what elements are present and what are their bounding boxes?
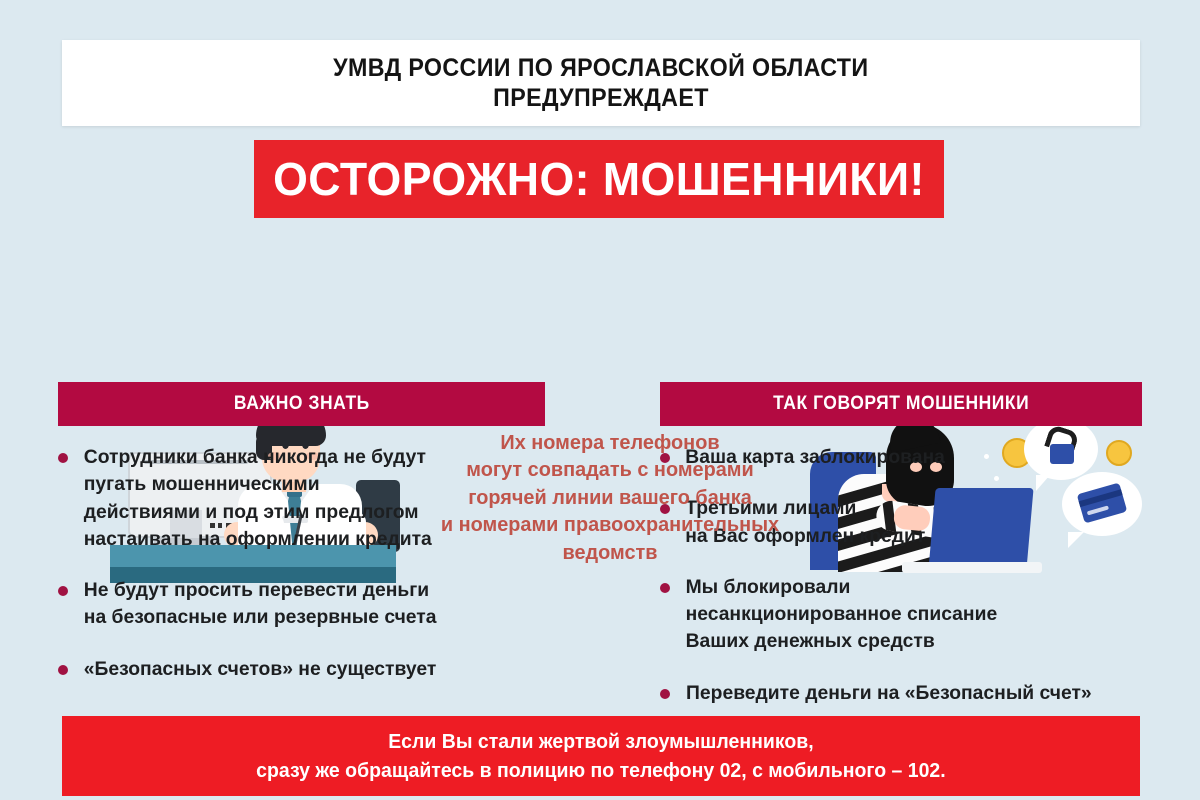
bullet-dot-icon xyxy=(660,689,670,699)
center-warning-line-4: и номерами правоохранительных xyxy=(404,511,815,538)
agency-header-line-1: УМВД РОССИИ ПО ЯРОСЛАВСКОЙ ОБЛАСТИ xyxy=(333,53,868,84)
center-warning-line-2: могут совпадать с номерами xyxy=(404,456,815,483)
center-warning-line-1: Их номера телефонов xyxy=(404,429,815,456)
list-item-text: Переведите деньги на «Безопасный счет» xyxy=(686,680,1092,707)
main-title-banner: ОСТОРОЖНО: МОШЕННИКИ! xyxy=(254,140,944,218)
poster-root: УМВД РОССИИ ПО ЯРОСЛАВСКОЙ ОБЛАСТИ ПРЕДУ… xyxy=(0,0,1200,800)
section-header-important-to-know: ВАЖНО ЗНАТЬ xyxy=(58,382,545,426)
agency-header-line-2: ПРЕДУПРЕЖДАЕТ xyxy=(493,83,709,114)
center-warning-text: Их номера телефонов могут совпадать с но… xyxy=(398,429,822,566)
footer-line-1: Если Вы стали жертвой злоумышленников, xyxy=(388,727,813,756)
center-warning-line-3: горячей линии вашего банка xyxy=(404,484,815,511)
bullet-dot-icon xyxy=(58,586,68,596)
bullet-dot-icon xyxy=(58,453,68,463)
list-item-text: «Безопасных счетов» не существует xyxy=(84,656,437,683)
center-warning-line-5: ведомств xyxy=(404,539,815,566)
list-item-text: Сотрудники банка никогда не будут пугать… xyxy=(84,444,432,553)
bullet-dot-icon xyxy=(58,665,68,675)
list-item: Переведите деньги на «Безопасный счет» xyxy=(660,680,1170,707)
section-header-right-label: ТАК ГОВОРЯТ МОШЕННИКИ xyxy=(773,393,1029,415)
bullet-dot-icon xyxy=(660,583,670,593)
illustration-band: Их номера телефонов могут совпадать с но… xyxy=(0,205,1200,385)
main-title-text: ОСТОРОЖНО: МОШЕННИКИ! xyxy=(273,152,925,206)
list-item: Не будут просить перевести деньги на без… xyxy=(58,577,558,632)
section-header-what-fraudsters-say: ТАК ГОВОРЯТ МОШЕННИКИ xyxy=(660,382,1142,426)
agency-header-band: УМВД РОССИИ ПО ЯРОСЛАВСКОЙ ОБЛАСТИ ПРЕДУ… xyxy=(62,40,1140,126)
list-item: «Безопасных счетов» не существует xyxy=(58,656,558,683)
footer-line-2: сразу же обращайтесь в полицию по телефо… xyxy=(256,756,946,785)
section-header-left-label: ВАЖНО ЗНАТЬ xyxy=(234,393,370,415)
list-item-text: Не будут просить перевести деньги на без… xyxy=(84,577,437,632)
list-item-text: Мы блокировали несанкционированное списа… xyxy=(686,574,998,656)
list-item: Мы блокировали несанкционированное списа… xyxy=(660,574,1170,656)
footer-contact-banner: Если Вы стали жертвой злоумышленников, с… xyxy=(62,716,1140,796)
